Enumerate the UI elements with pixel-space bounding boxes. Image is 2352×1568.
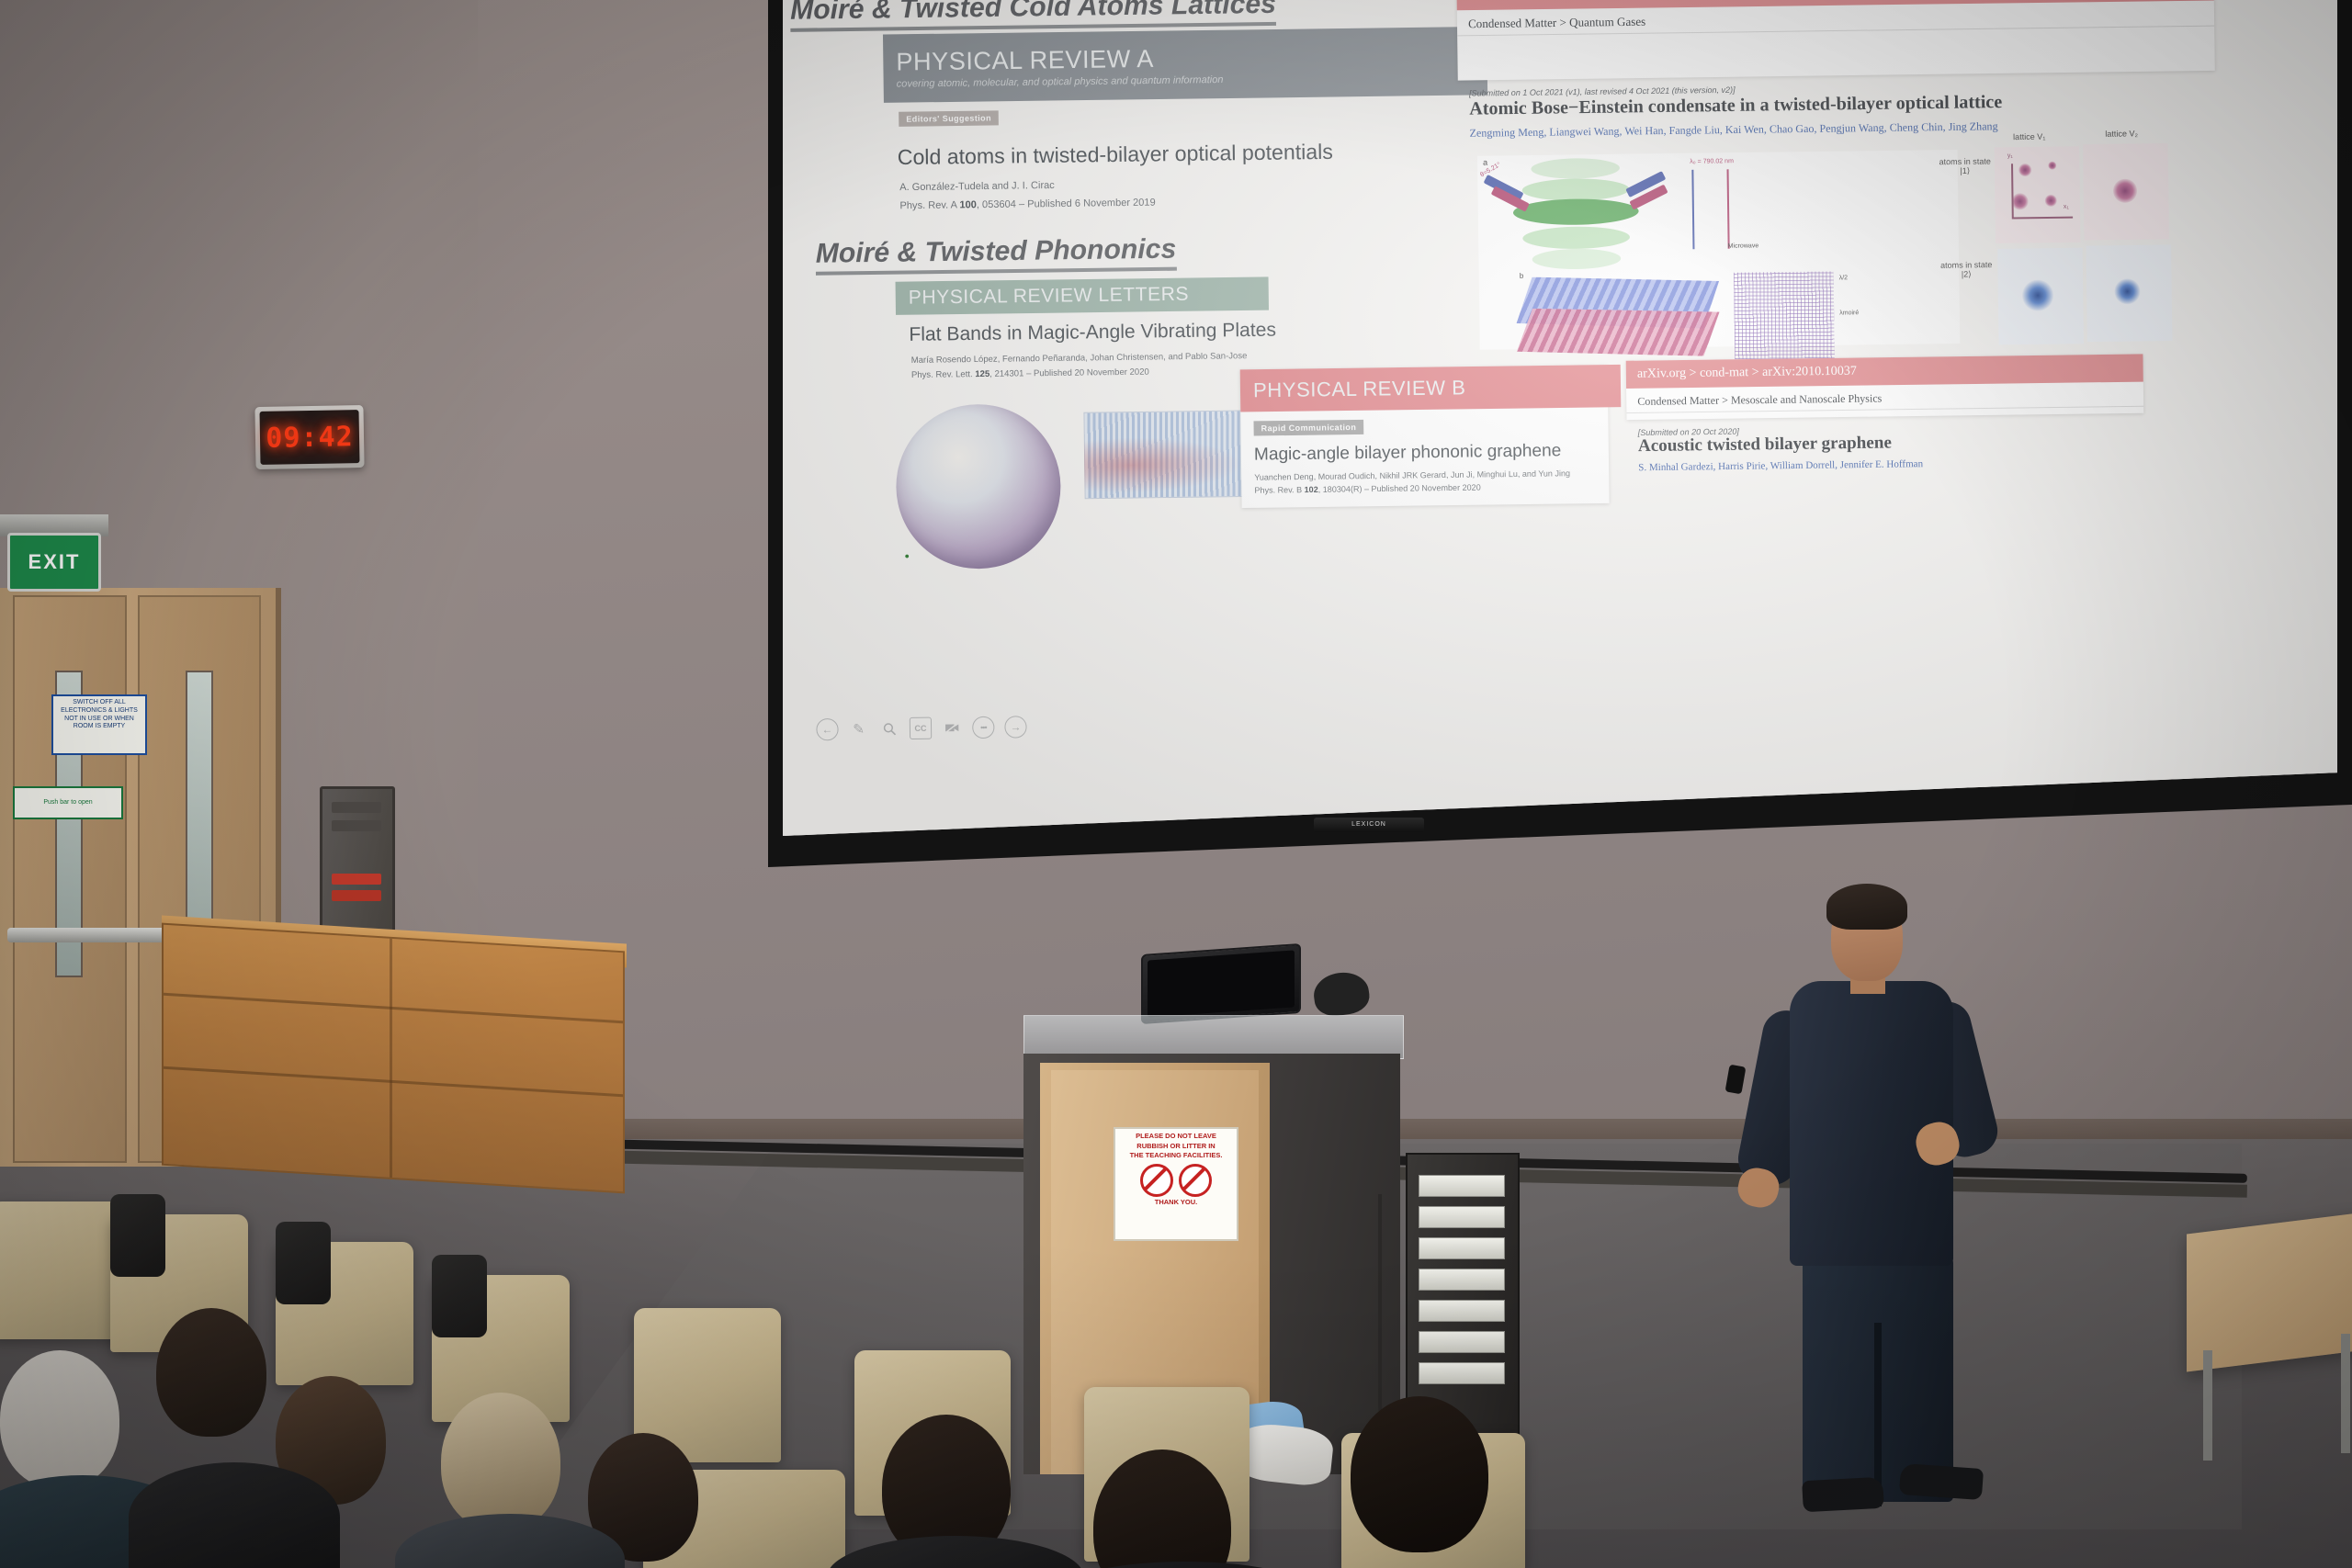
- next-slide-icon[interactable]: →: [1004, 716, 1026, 738]
- cite-suffix-prl: , 214301 – Published 20 November 2020: [989, 367, 1149, 379]
- presenter-shoe-right: [1899, 1463, 1984, 1500]
- presentation-slide: Moiré & Twisted Cold Atoms Lattices PHYS…: [783, 0, 2337, 836]
- paper-title-prl: Flat Bands in Magic-Angle Vibrating Plat…: [909, 320, 1276, 346]
- cite-prefix-prl: Phys. Rev. Lett.: [911, 369, 975, 380]
- cite-suffix-prb: , 180304(R) – Published 20 November 2020: [1318, 483, 1481, 494]
- arxiv-breadcrumb-bec[interactable]: > cond-mat > arXiv:2110.00149: [1520, 0, 1675, 1]
- door-panel-left: [13, 595, 127, 1163]
- audience-shoulders: [129, 1462, 340, 1568]
- arxiv-authors-acoustic: S. Minhal Gardezi, Harris Pirie, William…: [1627, 458, 1934, 481]
- sign-line-2: RUBBISH OR LITTER IN: [1136, 1143, 1215, 1151]
- no-food-icon: [1140, 1164, 1173, 1197]
- journal-banner-pra: PHYSICAL REVIEW A covering atomic, molec…: [883, 27, 1487, 103]
- prb-card: PHYSICAL REVIEW B Rapid Communication Ma…: [1240, 365, 1610, 508]
- panel-slot-1: [332, 802, 381, 813]
- atoms-state-1-label: atoms in state |1⟩: [1938, 156, 1994, 176]
- paper-title-pra: Cold atoms in twisted-bilayer optical po…: [898, 140, 1333, 170]
- phononic-lattice-sphere-figure: [895, 403, 1061, 570]
- figure-wavelength-label: λ₀ = 790.02 nm: [1690, 158, 1734, 165]
- diffraction-panel-state1-v2: [2083, 143, 2169, 241]
- diffraction-panel-state2-v2: [2086, 244, 2173, 342]
- paper-authors-pra: A. González-Tudela and J. I. Cirac: [899, 180, 1055, 193]
- editors-suggestion-tag: Editors' Suggestion: [899, 110, 999, 127]
- moire-lattice-grid: [1734, 271, 1835, 359]
- figure-microwave-label: Microwave: [1728, 243, 1759, 249]
- section-heading-phononics: Moiré & Twisted Phononics: [815, 233, 1176, 275]
- monitor-screen: [1148, 950, 1295, 1017]
- arxiv-authors-bec: Zengming Meng, Liangwei Wang, Wei Han, F…: [1458, 119, 2008, 149]
- seat-armrest: [432, 1255, 487, 1337]
- paper-citation-prl: Phys. Rev. Lett. 125, 214301 – Published…: [911, 367, 1149, 380]
- panel-slot-2: [332, 820, 381, 831]
- moire-potential-surface-lower: [1516, 306, 1720, 358]
- atoms-state-2-label: atoms in state |2⟩: [1939, 260, 1995, 280]
- diffraction-panel-state1-v1: y₁ x₁: [1995, 146, 2081, 243]
- cite-suffix-pra: , 053604 – Published 6 November 2019: [977, 197, 1156, 211]
- av-wall-control-panel[interactable]: [320, 786, 395, 939]
- panel-indicator-red-2: [332, 890, 381, 901]
- arxiv-card-bec: arXiv > cond-mat > arXiv:2110.00149 Cond…: [1456, 0, 2215, 81]
- section-heading-cold-atoms: Moiré & Twisted Cold Atoms Lattices: [790, 0, 1276, 32]
- cite-prefix-prb: Phys. Rev. B: [1254, 485, 1304, 495]
- panel-axis-x: x₁: [2064, 204, 2069, 210]
- arxiv-title-acoustic: Acoustic twisted bilayer graphene: [1627, 431, 1903, 460]
- audience-head: [441, 1393, 560, 1530]
- closed-captions-icon[interactable]: CC: [910, 717, 932, 739]
- camera-off-icon[interactable]: [942, 717, 962, 738]
- audience-head: [0, 1350, 119, 1488]
- magnifier-zoom-icon[interactable]: [879, 718, 899, 739]
- journal-name-prb: PHYSICAL REVIEW B: [1253, 374, 1621, 402]
- figure-scale-lambda-moire: λmoiré: [1839, 310, 1859, 316]
- cite-prefix-pra: Phys. Rev. A: [899, 199, 959, 211]
- lattice-v2-label: lattice V₂: [2085, 129, 2159, 139]
- figure-credit-logo: ●: [904, 551, 910, 560]
- panel-axis-y: y₁: [2007, 152, 2013, 159]
- sign-line-3: THE TEACHING FACILITIES.: [1130, 1152, 1223, 1160]
- paper-citation-pra: Phys. Rev. A 100, 053604 – Published 6 N…: [899, 197, 1155, 212]
- vibrating-plates-mode-overlay: [1084, 436, 1242, 494]
- arxiv-card-acoustic: arXiv.org > cond-mat > arXiv:2010.10037 …: [1626, 354, 2144, 420]
- wall-clock: 09:42: [254, 405, 364, 469]
- side-table: [2187, 1209, 2352, 1371]
- rapid-communication-tag: Rapid Communication: [1253, 420, 1363, 436]
- litter-notice-sign: PLEASE DO NOT LEAVE RUBBISH OR LITTER IN…: [1114, 1127, 1238, 1241]
- cite-volume-prb: 102: [1305, 485, 1318, 494]
- figure-panel-tag-b: b: [1520, 272, 1524, 280]
- arxiv-logo: arXiv: [1467, 0, 1516, 4]
- projection-screen: Moiré & Twisted Cold Atoms Lattices PHYS…: [783, 0, 2337, 836]
- journal-name-prl: PHYSICAL REVIEW LETTERS: [909, 282, 1269, 309]
- journal-banner-prb: PHYSICAL REVIEW B: [1240, 365, 1622, 412]
- diffraction-panel-state2-v1: [1997, 248, 2084, 345]
- wooden-cabinet: [162, 923, 625, 1194]
- no-drink-icon: [1179, 1164, 1212, 1197]
- lattice-v1-label: lattice V₁: [1992, 131, 2066, 141]
- cite-volume-pra: 100: [959, 199, 977, 210]
- sign-line-1: PLEASE DO NOT LEAVE: [1136, 1133, 1216, 1141]
- paper-authors-prb: Yuanchen Deng, Mourad Oudich, Nikhil JRK…: [1254, 468, 1570, 482]
- cite-volume-prl: 125: [975, 369, 989, 379]
- seat-back[interactable]: [0, 1201, 129, 1339]
- seat-armrest: [110, 1194, 165, 1277]
- pen-annotate-icon[interactable]: ✎: [848, 719, 868, 739]
- clock-display: 09:42: [260, 410, 360, 465]
- panel-indicator-red: [332, 874, 381, 885]
- presenter-shoe-left: [1802, 1477, 1884, 1513]
- exit-sign: EXIT: [7, 533, 101, 592]
- audience-head: [156, 1308, 266, 1437]
- paper-title-prb: Magic-angle bilayer phononic graphene: [1254, 441, 1562, 465]
- paper-citation-prb: Phys. Rev. B 102, 180304(R) – Published …: [1254, 483, 1480, 495]
- paper-authors-prl: María Rosendo López, Fernando Peñaranda,…: [911, 351, 1248, 366]
- projector-brand-plate: LEXICON: [1314, 818, 1424, 832]
- seat-armrest: [276, 1222, 331, 1304]
- more-options-icon[interactable]: •••: [972, 716, 994, 739]
- figure-panel-tag-a: a: [1483, 158, 1487, 167]
- lecture-hall-photo: SWITCH OFF ALL ELECTRONICS & LIGHTS NOT …: [0, 0, 2352, 1568]
- figure-scale-lambda-half: λ/2: [1839, 275, 1848, 281]
- audience-head: [1351, 1396, 1488, 1552]
- door-notice-electronics: SWITCH OFF ALL ELECTRONICS & LIGHTS NOT …: [51, 694, 147, 755]
- presenter-hair: [1826, 884, 1907, 930]
- lectern-glass-top: [1023, 1015, 1404, 1059]
- presentation-toolbar[interactable]: ← ✎ CC ••• →: [816, 716, 1026, 740]
- previous-slide-icon[interactable]: ←: [816, 718, 838, 740]
- door-notice-push: Push bar to open: [13, 786, 123, 819]
- bec-figure-schematic: a θ=5.21° λ₀ = 790.02 nm Microwave: [1477, 150, 1960, 350]
- journal-banner-prl: PHYSICAL REVIEW LETTERS: [896, 276, 1269, 314]
- lectern-monitor[interactable]: [1141, 943, 1301, 1024]
- sign-line-4: THANK YOU.: [1155, 1199, 1198, 1207]
